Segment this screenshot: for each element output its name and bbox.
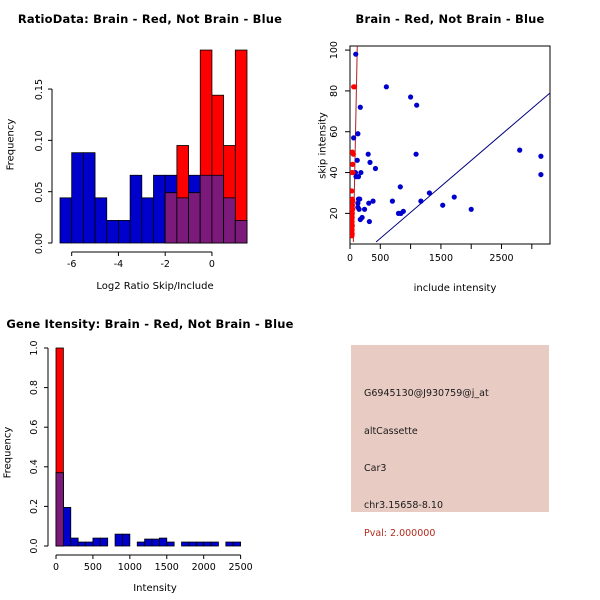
- point-not-brain: [356, 174, 361, 179]
- scatter-inner: [349, 46, 550, 242]
- locus-text: chr3.15658-8.10: [364, 500, 443, 511]
- point-not-brain: [452, 194, 457, 199]
- point-not-brain: [413, 152, 418, 157]
- bar-not-brain: [71, 538, 78, 546]
- y-tick-label: 100: [329, 41, 340, 59]
- blue-fit-line: [376, 93, 550, 242]
- event-type-text: altCassette: [364, 426, 418, 437]
- bar-not-brain: [130, 175, 142, 243]
- bar-not-brain: [137, 542, 144, 546]
- point-not-brain: [384, 84, 389, 89]
- panel-intensity-scatter: Brain - Red, Not Brain - Blue skip inten…: [300, 0, 600, 300]
- plot-canvas: RatioData: Brain - Red, Not Brain - Blue…: [0, 0, 600, 600]
- bar-overlap: [235, 220, 247, 243]
- bar-not-brain: [167, 542, 174, 546]
- pval-text: Pval: 2.000000: [364, 528, 435, 539]
- bar-not-brain: [145, 539, 152, 546]
- x-tick-label: 0: [347, 253, 353, 264]
- point-not-brain: [353, 52, 358, 57]
- bar-not-brain: [93, 538, 100, 546]
- bar-not-brain: [72, 153, 84, 243]
- y-tick-label: 0.0: [29, 538, 40, 553]
- bar-not-brain: [86, 542, 93, 546]
- bar-overlap: [212, 175, 224, 243]
- point-not-brain: [351, 135, 356, 140]
- point-not-brain: [356, 207, 361, 212]
- x-tick-label: -4: [114, 259, 123, 270]
- x-tick-label: 1500: [429, 253, 453, 264]
- bar-not-brain: [159, 538, 166, 546]
- bar-not-brain: [83, 153, 95, 243]
- x-tick-label: 0: [53, 562, 59, 573]
- point-brain: [349, 233, 354, 238]
- bar-overlap: [177, 198, 189, 243]
- bar-overlap: [224, 198, 236, 243]
- bar-not-brain: [107, 220, 119, 243]
- gene-symbol-text: Car3: [364, 463, 386, 474]
- bar-not-brain: [118, 220, 130, 243]
- y-tick-label: 0.10: [34, 130, 45, 151]
- point-not-brain: [517, 148, 522, 153]
- bar-not-brain: [182, 542, 189, 546]
- bar-overlap: [165, 193, 177, 243]
- point-not-brain: [398, 184, 403, 189]
- y-tick-label: 0.4: [29, 459, 40, 474]
- point-brain: [350, 170, 355, 175]
- x-tick-label: -6: [67, 259, 76, 270]
- bar-not-brain: [115, 534, 122, 546]
- bar-not-brain: [95, 198, 107, 243]
- point-not-brain: [469, 207, 474, 212]
- point-not-brain: [418, 199, 423, 204]
- bar-not-brain: [189, 542, 196, 546]
- point-brain: [351, 152, 356, 157]
- bar-not-brain: [204, 542, 211, 546]
- x-tick-label: 0: [209, 259, 215, 270]
- bar-not-brain: [226, 542, 233, 546]
- point-not-brain: [373, 166, 378, 171]
- panel-ratio-histogram: RatioData: Brain - Red, Not Brain - Blue…: [0, 0, 300, 300]
- bar-not-brain: [233, 542, 240, 546]
- bar-overlap: [200, 175, 212, 243]
- panel-gene-intensity-histogram: Gene Itensity: Brain - Red, Not Brain - …: [0, 300, 300, 600]
- y-tick-label: 0.2: [29, 499, 40, 514]
- y-tick-label: 0.15: [34, 79, 45, 100]
- probe-id-text: G6945130@J930759@j_at: [364, 388, 489, 399]
- y-tick-label: 20: [329, 207, 340, 219]
- point-not-brain: [367, 160, 372, 165]
- y-tick-label: 60: [329, 126, 340, 138]
- point-not-brain: [538, 172, 543, 177]
- point-not-brain: [440, 203, 445, 208]
- x-tick-label: 2500: [229, 562, 253, 573]
- point-not-brain: [538, 154, 543, 159]
- point-not-brain: [414, 103, 419, 108]
- bar-not-brain: [154, 175, 166, 243]
- bar-brain: [235, 50, 247, 243]
- point-not-brain: [362, 207, 367, 212]
- point-not-brain: [401, 209, 406, 214]
- bar-not-brain: [196, 542, 203, 546]
- bar-not-brain: [122, 534, 129, 546]
- point-not-brain: [355, 131, 360, 136]
- y-tick-label: 40: [329, 167, 340, 179]
- y-tick-label: 0.8: [29, 380, 40, 395]
- bar-not-brain: [211, 542, 218, 546]
- x-tick-label: -2: [160, 259, 169, 270]
- x-tick-label: 2000: [192, 562, 216, 573]
- bar-overlap: [56, 473, 63, 546]
- bar-not-brain: [142, 198, 154, 243]
- point-not-brain: [358, 105, 363, 110]
- point-not-brain: [355, 201, 360, 206]
- x-tick-label: 1500: [155, 562, 179, 573]
- scatter-plot: 20406080100050015002500: [300, 0, 600, 300]
- point-not-brain: [366, 152, 371, 157]
- point-not-brain: [367, 219, 372, 224]
- bar-not-brain: [78, 542, 85, 546]
- x-tick-label: 500: [371, 253, 389, 264]
- point-not-brain: [360, 215, 365, 220]
- x-tick-label: 2500: [489, 253, 513, 264]
- point-not-brain: [355, 158, 360, 163]
- gene-histogram-plot: 0.00.20.40.60.81.005001000150020002500: [0, 300, 300, 600]
- y-tick-label: 1.0: [29, 340, 40, 355]
- point-not-brain: [427, 190, 432, 195]
- point-brain: [350, 162, 355, 167]
- bar-not-brain: [60, 198, 72, 243]
- bar-not-brain: [152, 539, 159, 546]
- panel-probe-info: G6945130@J930759@j_at altCassette Car3 c…: [300, 300, 600, 600]
- bar-not-brain: [100, 538, 107, 546]
- plot-frame: [350, 46, 550, 244]
- y-tick-label: 80: [329, 85, 340, 97]
- point-not-brain: [390, 199, 395, 204]
- ratio-histogram-plot: 0.000.050.100.15-6-4-20: [0, 0, 300, 300]
- y-tick-label: 0.6: [29, 420, 40, 435]
- point-not-brain: [408, 94, 413, 99]
- y-tick-label: 0.05: [34, 182, 45, 203]
- point-brain: [352, 84, 357, 89]
- x-tick-label: 500: [84, 562, 102, 573]
- bar-not-brain: [63, 507, 70, 546]
- bar-overlap: [189, 193, 201, 243]
- x-tick-label: 1000: [118, 562, 142, 573]
- y-tick-label: 0.00: [34, 233, 45, 254]
- point-not-brain: [366, 201, 371, 206]
